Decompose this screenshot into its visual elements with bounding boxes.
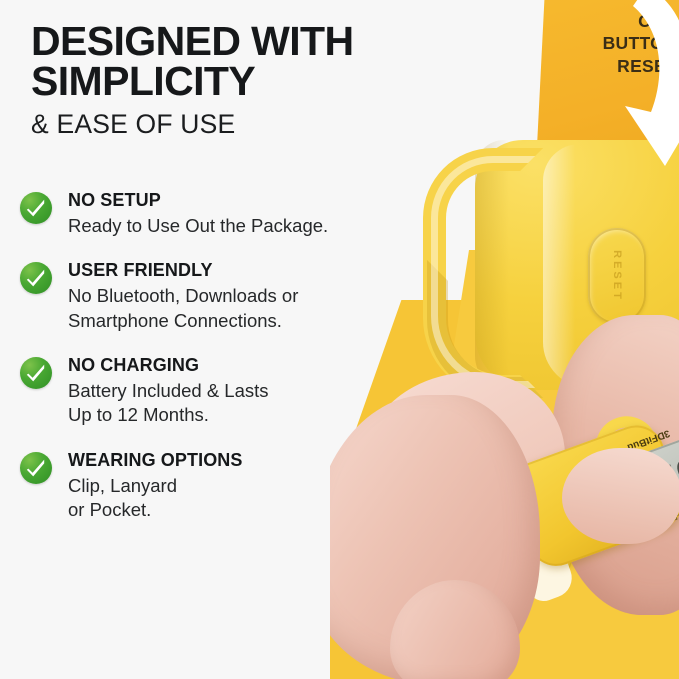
headline-line-2: SIMPLICITY [31,62,411,102]
feature-text: WEARING OPTIONSClip, Lanyardor Pocket. [68,450,420,523]
feature-description-line: Battery Included & Lasts [68,379,420,404]
curved-down-arrow-icon [585,0,679,180]
text-content-column: DESIGNED WITH SIMPLICITY & EASE OF USE N… [0,0,420,679]
feature-item: NO CHARGINGBattery Included & LastsUp to… [20,355,420,428]
feature-description-line: Ready to Use Out the Package. [68,214,420,239]
feature-list: NO SETUPReady to Use Out the Package.USE… [20,190,420,545]
feature-text: USER FRIENDLYNo Bluetooth, Downloads orS… [68,260,420,333]
headline-line-1: DESIGNED WITH [31,22,411,62]
feature-title: USER FRIENDLY [68,260,420,281]
reset-button-label: RESET [569,247,665,305]
feature-description: Battery Included & LastsUp to 12 Months. [68,379,420,428]
green-check-icon [20,192,52,224]
green-check-icon [20,262,52,294]
feature-title: NO CHARGING [68,355,420,376]
feature-description-line: Up to 12 Months. [68,403,420,428]
feature-text: NO SETUPReady to Use Out the Package. [68,190,420,238]
feature-item: WEARING OPTIONSClip, Lanyardor Pocket. [20,450,420,523]
feature-item: USER FRIENDLYNo Bluetooth, Downloads orS… [20,260,420,333]
feature-description-line: Smartphone Connections. [68,309,420,334]
feature-description-line: or Pocket. [68,498,420,523]
lanyard-hook-highlight [431,156,535,388]
feature-item: NO SETUPReady to Use Out the Package. [20,190,420,238]
feature-title: NO SETUP [68,190,420,211]
feature-description-line: No Bluetooth, Downloads or [68,284,420,309]
feature-text: NO CHARGINGBattery Included & LastsUp to… [68,355,420,428]
feature-description: Clip, Lanyardor Pocket. [68,474,420,523]
green-check-icon [20,357,52,389]
feature-description: No Bluetooth, Downloads orSmartphone Con… [68,284,420,333]
product-infographic: ONE BUTTON RESET RESET [0,0,679,679]
feature-description-line: Clip, Lanyard [68,474,420,499]
reset-button[interactable]: RESET [588,228,646,324]
feature-title: WEARING OPTIONS [68,450,420,471]
headline-subtitle: & EASE OF USE [31,111,411,138]
green-check-icon [20,452,52,484]
feature-description: Ready to Use Out the Package. [68,214,420,239]
page-title: DESIGNED WITH SIMPLICITY & EASE OF USE [31,22,411,137]
right-hand-thumb [562,448,679,544]
